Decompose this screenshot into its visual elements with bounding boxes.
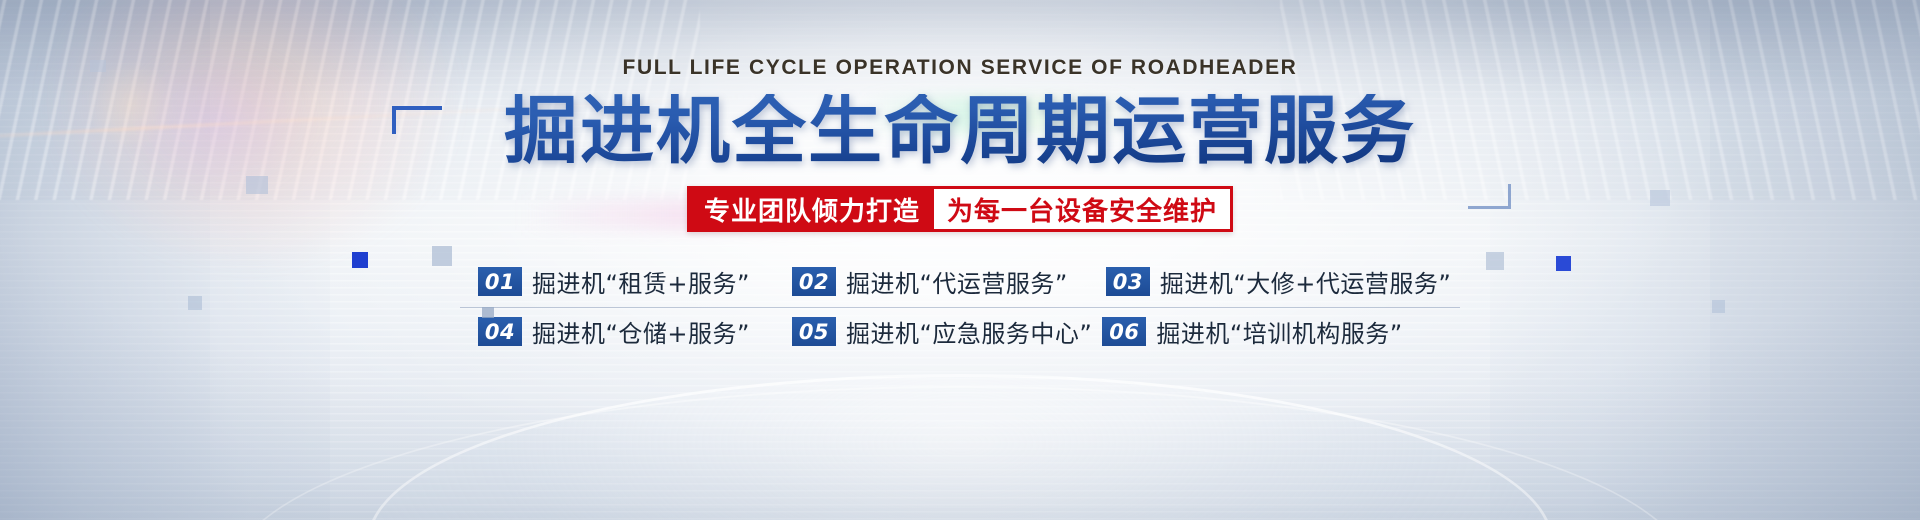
service-item-05[interactable]: 05 掘进机“应急服务中心”	[792, 314, 1092, 349]
service-item-03[interactable]: 03 掘进机“大修+代运营服务”	[1106, 264, 1451, 299]
service-number-badge: 05	[792, 317, 836, 346]
service-number-badge: 03	[1106, 267, 1150, 296]
service-list: 01 掘进机“租赁+服务” 02 掘进机“代运营服务” 03 掘进机“大修+代运…	[460, 258, 1460, 355]
service-number-badge: 02	[792, 267, 836, 296]
banner-content: FULL LIFE CYCLE OPERATION SERVICE OF ROA…	[0, 0, 1920, 520]
service-item-01[interactable]: 01 掘进机“租赁+服务”	[478, 264, 750, 299]
service-label: 掘进机“应急服务中心”	[846, 314, 1092, 349]
divider-tab-marker	[482, 307, 494, 318]
service-label: 掘进机“租赁+服务”	[532, 264, 750, 299]
service-item-02[interactable]: 02 掘进机“代运营服务”	[792, 264, 1068, 299]
service-item-04[interactable]: 04 掘进机“仓储+服务”	[478, 314, 750, 349]
service-row-2: 04 掘进机“仓储+服务” 05 掘进机“应急服务中心” 06 掘进机“培训机构…	[460, 307, 1460, 355]
service-number-badge: 06	[1102, 317, 1146, 346]
banner-eyebrow-english: FULL LIFE CYCLE OPERATION SERVICE OF ROA…	[623, 56, 1298, 80]
service-item-06[interactable]: 06 掘进机“培训机构服务”	[1102, 314, 1402, 349]
service-number-badge: 04	[478, 317, 522, 346]
service-label: 掘进机“代运营服务”	[846, 264, 1068, 299]
hero-banner: FULL LIFE CYCLE OPERATION SERVICE OF ROA…	[0, 0, 1920, 520]
service-number-badge: 01	[478, 267, 522, 296]
service-row-1: 01 掘进机“租赁+服务” 02 掘进机“代运营服务” 03 掘进机“大修+代运…	[460, 258, 1460, 305]
banner-headline: 掘进机全生命周期运营服务	[504, 94, 1416, 168]
service-label: 掘进机“培训机构服务”	[1156, 314, 1402, 349]
tagline-ribbon: 专业团队倾力打造 为每一台设备安全维护	[687, 186, 1233, 232]
tagline-left: 专业团队倾力打造	[690, 189, 934, 229]
tagline-right: 为每一台设备安全维护	[934, 189, 1230, 229]
service-label: 掘进机“仓储+服务”	[532, 314, 750, 349]
service-label: 掘进机“大修+代运营服务”	[1160, 264, 1451, 299]
